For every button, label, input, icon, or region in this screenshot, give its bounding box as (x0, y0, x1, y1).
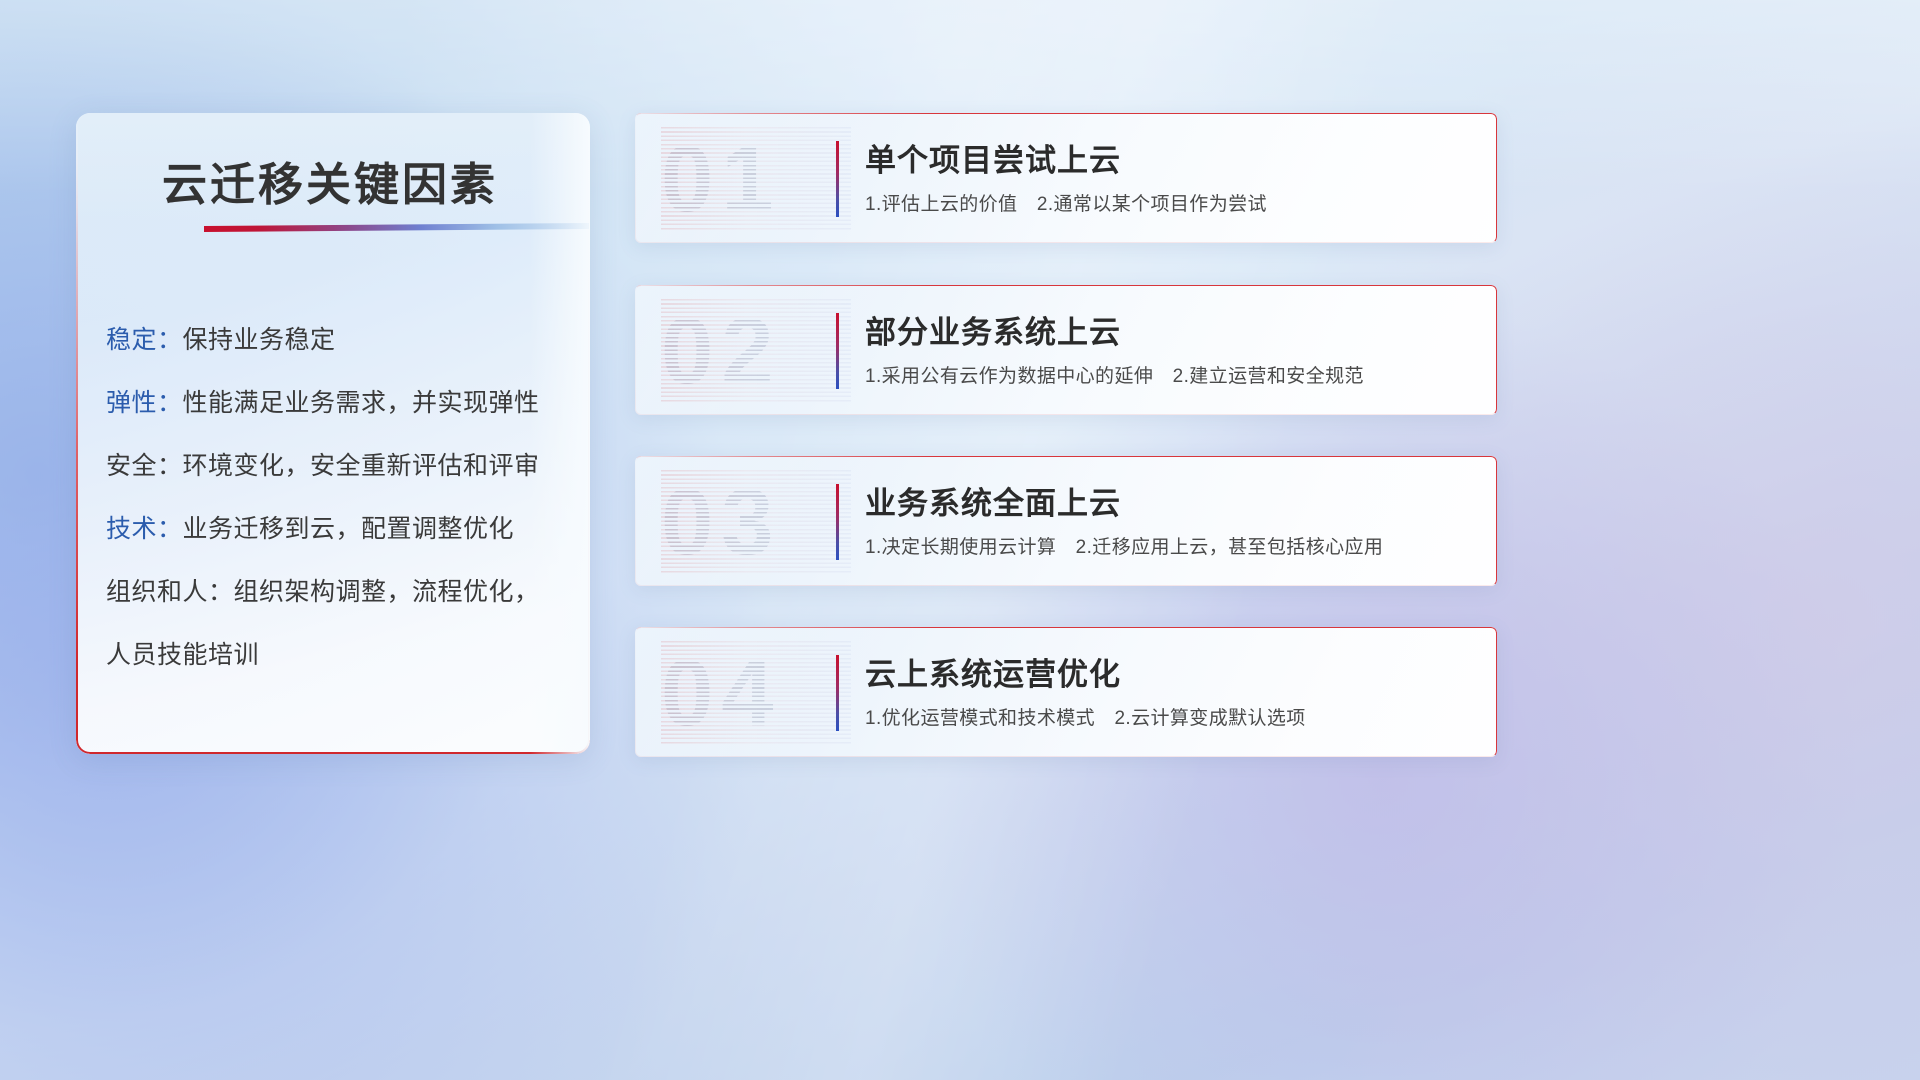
factor-value-3: 业务迁移到云，配置调整优化 (183, 515, 515, 543)
factor-key-0: 稳定： (106, 326, 183, 354)
step-card-03[interactable]: 03 业务系统全面上云 1.决定长期使用云计算 2.迁移应用上云，甚至包括核心应… (635, 456, 1497, 586)
factor-row-0: 稳定：保持业务稳定 (106, 320, 336, 356)
step-card-04[interactable]: 04 云上系统运营优化 1.优化运营模式和技术模式 2.云计算变成默认选项 (635, 627, 1497, 757)
factor-key-1: 弹性： (106, 389, 183, 417)
factor-value-5: 人员技能培训 (106, 641, 259, 669)
factor-key-3: 技术： (106, 515, 183, 543)
step-title-03: 业务系统全面上云 (865, 478, 1121, 523)
card-accent-divider (836, 313, 839, 389)
factor-value-0: 保持业务稳定 (183, 326, 336, 354)
key-factors-panel: 云迁移关键因素 稳定：保持业务稳定 弹性：性能满足业务需求，并实现弹性 安全：环… (76, 113, 590, 754)
factor-row-5: 人员技能培训 (106, 635, 259, 671)
step-card-02[interactable]: 02 部分业务系统上云 1.采用公有云作为数据中心的延伸 2.建立运营和安全规范 (635, 285, 1497, 415)
step-title-01: 单个项目尝试上云 (865, 135, 1121, 180)
factor-value-1: 性能满足业务需求，并实现弹性 (183, 389, 540, 417)
factor-key-2: 安全： (106, 452, 183, 480)
step-desc-03: 1.决定长期使用云计算 2.迁移应用上云，甚至包括核心应用 (865, 532, 1383, 559)
step-number-01: 01 (661, 127, 851, 231)
factor-key-4: 组织和人： (106, 578, 234, 606)
step-card-01[interactable]: 01 单个项目尝试上云 1.评估上云的价值 2.通常以某个项目作为尝试 (635, 113, 1497, 243)
factor-value-4: 组织架构调整，流程优化， (234, 578, 540, 606)
panel-right-fade (530, 113, 590, 754)
step-number-04: 04 (661, 641, 851, 745)
step-desc-01: 1.评估上云的价值 2.通常以某个项目作为尝试 (865, 189, 1267, 216)
step-number-02: 02 (661, 299, 851, 403)
card-accent-divider (836, 484, 839, 560)
factor-value-2: 环境变化，安全重新评估和评审 (183, 452, 540, 480)
step-desc-02: 1.采用公有云作为数据中心的延伸 2.建立运营和安全规范 (865, 361, 1364, 388)
card-accent-divider (836, 141, 839, 217)
factor-row-1: 弹性：性能满足业务需求，并实现弹性 (106, 383, 540, 419)
factor-row-4: 组织和人：组织架构调整，流程优化， (106, 572, 540, 608)
page-title: 云迁移关键因素 (162, 148, 498, 213)
step-number-03: 03 (661, 470, 851, 574)
factor-row-2: 安全：环境变化，安全重新评估和评审 (106, 446, 540, 482)
factor-row-3: 技术：业务迁移到云，配置调整优化 (106, 509, 514, 545)
card-accent-divider (836, 655, 839, 731)
title-underline-accent (204, 223, 589, 232)
step-title-04: 云上系统运营优化 (865, 649, 1121, 694)
step-desc-04: 1.优化运营模式和技术模式 2.云计算变成默认选项 (865, 703, 1306, 730)
step-title-02: 部分业务系统上云 (865, 307, 1121, 352)
